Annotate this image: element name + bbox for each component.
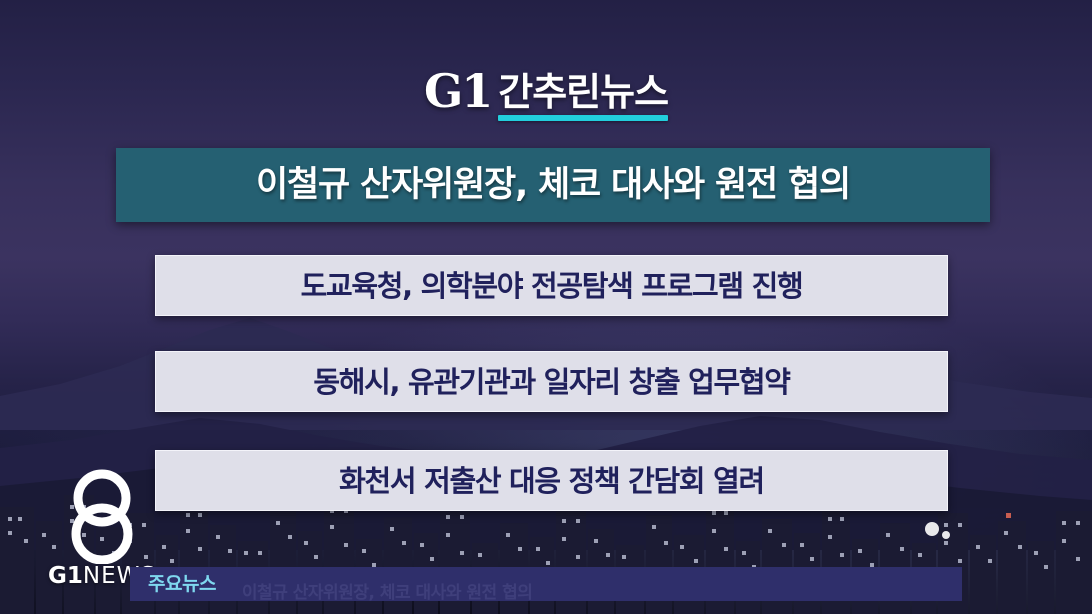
page-title: 간추린뉴스 [498, 70, 668, 114]
broadcast-news-screen: G1간추린뉴스 이철규 산자위원장, 체코 대사와 원전 협의 도교육청, 의학… [0, 0, 1092, 614]
program-header: G1간추린뉴스 [0, 66, 1092, 121]
headline-text: 화천서 저출산 대응 정책 간담회 열려 [339, 466, 764, 496]
headline-banner-3[interactable]: 동해시, 유관기관과 일자리 창출 업무협약 [155, 351, 948, 412]
headline-text: 이철규 산자위원장, 체코 대사와 원전 협의 [256, 168, 850, 203]
program-title-wrap: 간추린뉴스 [498, 70, 668, 121]
headline-banner-4[interactable]: 화천서 저출산 대응 정책 간담회 열려 [155, 450, 948, 511]
ticker-category-label: 주요뉴스 [148, 574, 216, 594]
headline-text: 동해시, 유관기관과 일자리 창출 업무협약 [313, 367, 789, 397]
news-ticker-bar[interactable]: 주요뉴스 이철규 산자위원장, 체코 대사와 원전 협의 [130, 567, 962, 601]
title-underline-accent [498, 115, 668, 121]
g1-logo-mark: G1 [424, 68, 491, 114]
ticker-scrolling-text: 이철규 산자위원장, 체코 대사와 원전 협의 [242, 584, 532, 601]
channel-brand-g1: G1 [48, 563, 83, 589]
figure-eight-icon [43, 468, 161, 564]
headline-banner-featured[interactable]: 이철규 산자위원장, 체코 대사와 원전 협의 [116, 148, 990, 222]
headline-banner-2[interactable]: 도교육청, 의학분야 전공탐색 프로그램 진행 [155, 255, 948, 316]
headline-text: 도교육청, 의학분야 전공탐색 프로그램 진행 [301, 271, 803, 301]
